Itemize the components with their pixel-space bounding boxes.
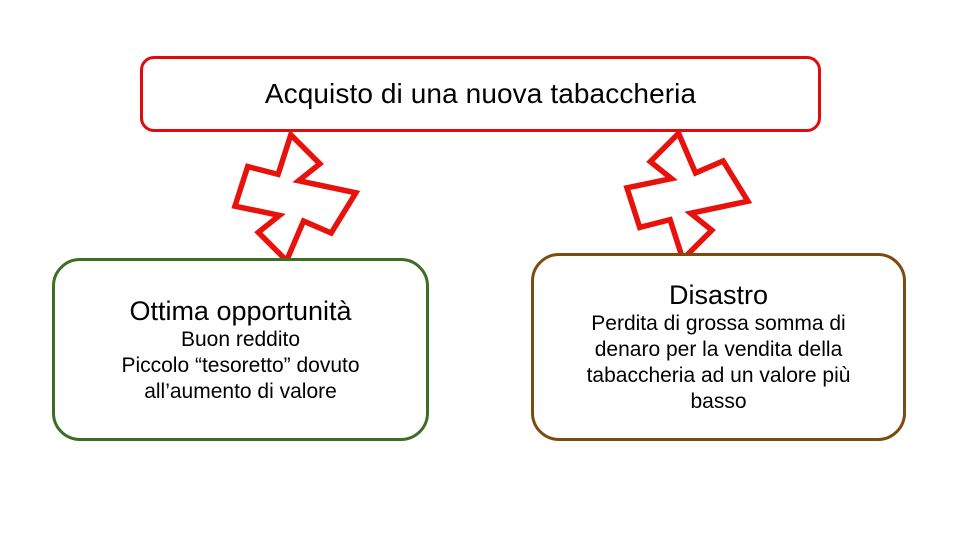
root-node-title: Acquisto di una nuova tabaccheria	[265, 77, 696, 111]
outcome-positive-line-1: Buon reddito	[121, 327, 359, 353]
outcome-negative-line-4: basso	[587, 389, 851, 415]
outcome-negative-line-1: Perdita di grossa somma di	[587, 311, 851, 337]
outcome-positive-line-3: all’aumento di valore	[121, 379, 359, 405]
diagram-canvas: Acquisto di una nuova tabaccheria Ottima…	[0, 0, 960, 540]
arrow-to-negative-icon	[624, 142, 736, 252]
outcome-negative-heading: Disastro	[669, 279, 768, 311]
outcome-positive-body: Buon reddito Piccolo “tesoretto” dovuto …	[107, 327, 373, 405]
arrow-to-positive-icon	[232, 142, 344, 252]
outcome-negative-line-3: tabaccheria ad un valore più	[587, 363, 851, 389]
outcome-node-negative[interactable]: Disastro Perdita di grossa somma di dena…	[531, 253, 906, 441]
outcome-positive-line-2: Piccolo “tesoretto” dovuto	[121, 353, 359, 379]
outcome-negative-line-2: denaro per la vendita della	[587, 337, 851, 363]
outcome-negative-body: Perdita di grossa somma di denaro per la…	[573, 311, 865, 415]
outcome-positive-heading: Ottima opportunità	[129, 295, 351, 327]
outcome-node-positive[interactable]: Ottima opportunità Buon reddito Piccolo …	[52, 258, 429, 441]
root-node-box[interactable]: Acquisto di una nuova tabaccheria	[140, 56, 821, 132]
